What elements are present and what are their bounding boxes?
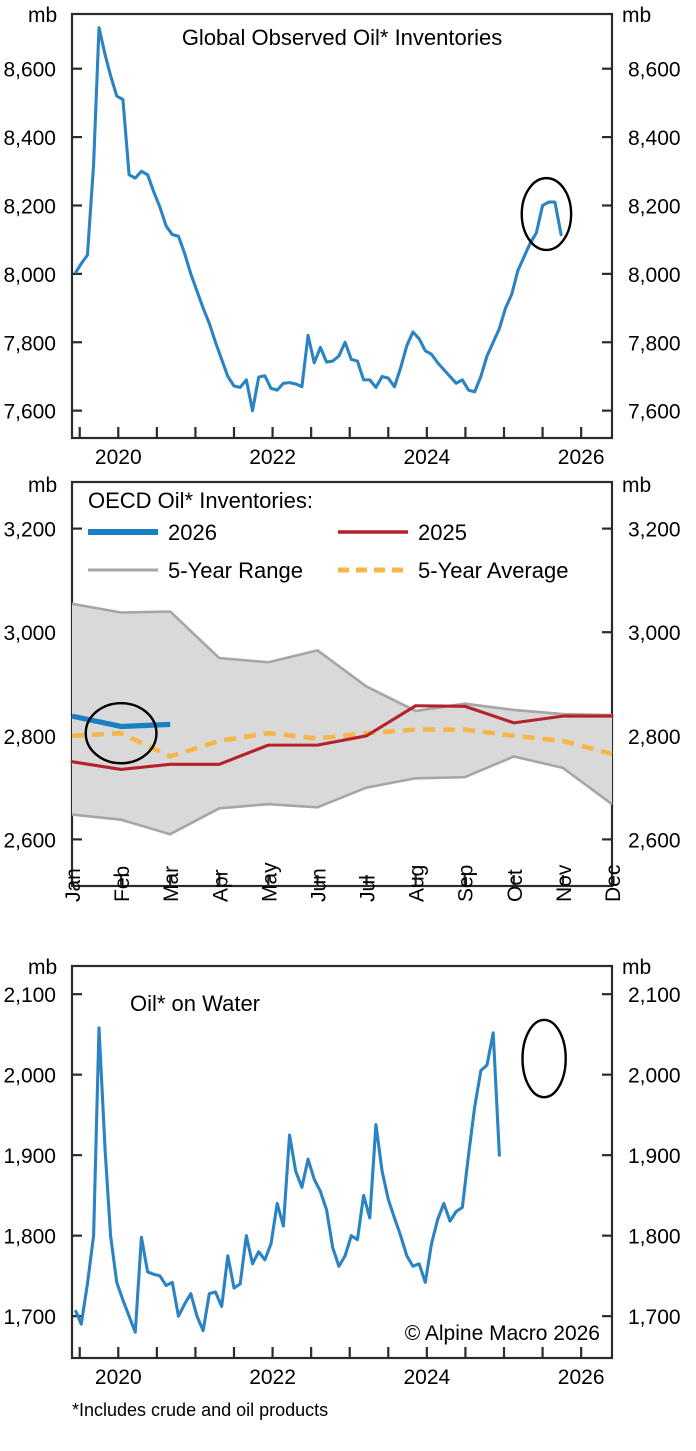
month-label-mar: Mar — [160, 866, 183, 902]
copyright-credit: © Alpine Macro 2026 — [405, 1322, 600, 1345]
panel2-svg: 2,6002,6002,8002,8003,0003,0003,2003,200… — [0, 470, 696, 900]
month-label-sep: Sep — [455, 865, 478, 902]
y-tick-label: 2,100 — [628, 984, 681, 1007]
panel3-unit-right: mb — [622, 956, 651, 979]
x-tick-label: 2024 — [403, 1366, 450, 1389]
panel3-x-tick-labels: 2020202220242026 — [95, 1366, 605, 1389]
y-tick-label: 1,700 — [3, 1306, 56, 1329]
panel1-plot-frame — [72, 14, 612, 438]
y-tick-label: 8,400 — [628, 127, 681, 150]
y-tick-label: 2,800 — [3, 726, 56, 749]
month-label-dec: Dec — [602, 865, 625, 902]
month-label-feb: Feb — [111, 866, 134, 902]
x-tick-label: 2026 — [558, 1366, 605, 1389]
alpine-macro-oil-inventories-figure: 7,6007,6007,8007,8008,0008,0008,2008,200… — [0, 0, 696, 1451]
panel2-legend-label-range: 5-Year Range — [168, 558, 303, 583]
y-tick-label: 1,700 — [628, 1306, 681, 1329]
panel-oecd-oil-inventories: 2,6002,6002,8002,8003,0003,0003,2003,200… — [0, 470, 696, 900]
y-tick-label: 2,000 — [628, 1065, 681, 1088]
month-label-may: May — [258, 862, 281, 902]
panel1-title: Global Observed Oil* Inventories — [182, 25, 502, 50]
month-label-aug: Aug — [406, 865, 429, 902]
month-label-nov: Nov — [553, 864, 576, 902]
y-tick-label: 8,000 — [628, 264, 681, 287]
panel-global-observed-oil-inventories: 7,6007,6007,8007,8008,0008,0008,2008,200… — [0, 0, 696, 470]
panel1-x-tick-labels: 2020202220242026 — [95, 446, 605, 469]
y-tick-label: 8,600 — [3, 59, 56, 82]
month-label-jun: Jun — [307, 868, 330, 902]
panel3-svg: 1,7001,7001,8001,8001,9001,9002,0002,000… — [0, 900, 696, 1400]
y-tick-label: 7,800 — [628, 332, 681, 355]
y-tick-label: 8,200 — [3, 195, 56, 218]
panel1-unit-right: mb — [622, 4, 651, 27]
panel3-title: Oil* on Water — [130, 991, 260, 1016]
panel2-unit-left: mb — [28, 474, 57, 497]
y-tick-label: 2,000 — [3, 1065, 56, 1088]
panel3-unit-left: mb — [28, 956, 57, 979]
panel2-legend-label-2026: 2026 — [168, 520, 217, 545]
y-tick-label: 2,600 — [628, 829, 681, 852]
y-tick-label: 7,800 — [3, 332, 56, 355]
y-tick-label: 1,900 — [628, 1145, 681, 1168]
x-tick-label: 2024 — [403, 446, 450, 469]
panel1-ticks — [72, 69, 612, 438]
month-label-jul: Jul — [357, 875, 380, 902]
panel2-legend-title: OECD Oil* Inventories: — [88, 488, 313, 513]
x-tick-label: 2020 — [95, 1366, 142, 1389]
y-tick-label: 8,600 — [628, 59, 681, 82]
y-tick-label: 3,000 — [3, 622, 56, 645]
x-tick-label: 2026 — [558, 446, 605, 469]
panel3-plot-frame — [72, 966, 612, 1358]
panel3-series-line — [76, 1028, 500, 1332]
footnote: *Includes crude and oil products — [72, 1400, 328, 1421]
panel1-y-tick-labels: 7,6007,6007,8007,8008,0008,0008,2008,200… — [3, 59, 680, 424]
panel2-month-labels: JanFebMarAprMayJunJulAugSepOctNovDec — [62, 862, 625, 902]
y-tick-label: 7,600 — [628, 401, 681, 424]
panel1-unit-left: mb — [28, 4, 57, 27]
y-tick-label: 7,600 — [3, 401, 56, 424]
month-label-jan: Jan — [62, 868, 85, 902]
y-tick-label: 3,200 — [3, 519, 56, 542]
panel2-unit-right: mb — [622, 474, 651, 497]
y-tick-label: 2,600 — [3, 829, 56, 852]
panel1-series-line — [76, 28, 561, 411]
panel1-svg: 7,6007,6007,8007,8008,0008,0008,2008,200… — [0, 0, 696, 470]
y-tick-label: 1,900 — [3, 1145, 56, 1168]
x-tick-label: 2022 — [249, 1366, 296, 1389]
month-label-apr: Apr — [209, 869, 232, 902]
panel1-annotation-ellipse — [522, 178, 571, 250]
panel2-legend-label-2025: 2025 — [418, 520, 467, 545]
x-tick-label: 2022 — [249, 446, 296, 469]
y-tick-label: 1,800 — [3, 1226, 56, 1249]
y-tick-label: 3,200 — [628, 519, 681, 542]
panel3-annotation-ellipse — [523, 1020, 566, 1097]
y-tick-label: 3,000 — [628, 622, 681, 645]
panel3-ticks — [72, 994, 612, 1358]
panel-oil-on-water: 1,7001,7001,8001,8001,9001,9002,0002,000… — [0, 900, 696, 1400]
y-tick-label: 8,000 — [3, 264, 56, 287]
month-label-oct: Oct — [504, 869, 527, 902]
x-tick-label: 2020 — [95, 446, 142, 469]
y-tick-label: 2,100 — [3, 984, 56, 1007]
y-tick-label: 8,400 — [3, 127, 56, 150]
panel2-legend-label-average: 5-Year Average — [418, 558, 568, 583]
y-tick-label: 8,200 — [628, 195, 681, 218]
y-tick-label: 1,800 — [628, 1226, 681, 1249]
y-tick-label: 2,800 — [628, 726, 681, 749]
